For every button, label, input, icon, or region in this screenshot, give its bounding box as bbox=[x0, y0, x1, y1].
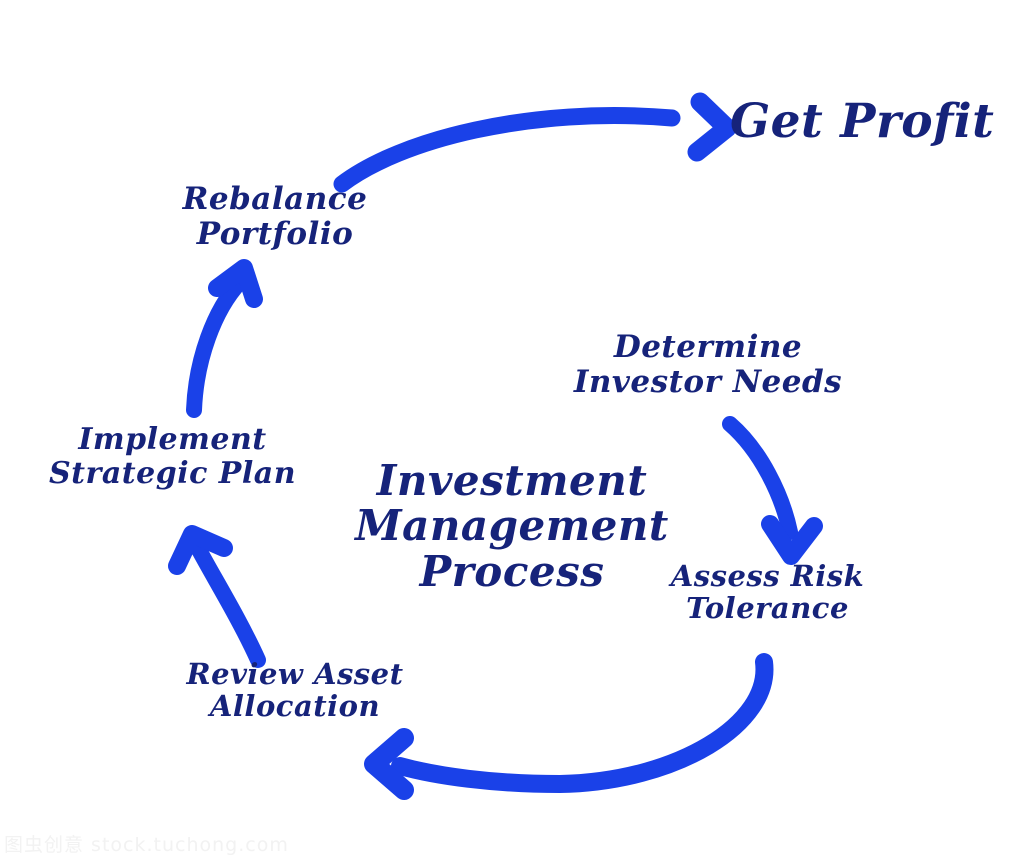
step-label-review-asset-allocation: Review Asset Allocation bbox=[160, 658, 430, 723]
arrow-implement-to-rebalance bbox=[194, 268, 254, 410]
step-label-determine-investor-needs: Determine Investor Needs bbox=[548, 330, 868, 399]
diagram-center-title: Investment Management Process bbox=[312, 458, 712, 594]
arrow-rebalance-to-profit bbox=[342, 102, 727, 184]
watermark: 图虫创意 stock.tuchong.com bbox=[4, 830, 289, 857]
step-label-implement-strategic-plan: Implement Strategic Plan bbox=[20, 423, 325, 490]
arrow-determine-to-assess bbox=[730, 424, 814, 556]
step-label-get-profit: Get Profit bbox=[730, 96, 1010, 149]
arrow-review-to-implement bbox=[177, 534, 258, 660]
step-label-rebalance-portfolio: Rebalance Portfolio bbox=[155, 182, 395, 251]
arrow-assess-to-review bbox=[374, 662, 764, 790]
diagram-canvas: Get Profit Determine Investor Needs Asse… bbox=[0, 0, 1024, 868]
